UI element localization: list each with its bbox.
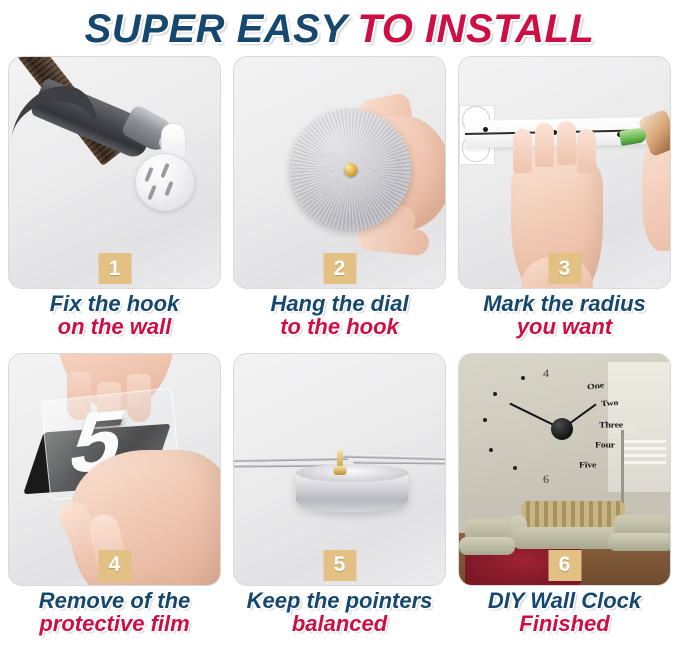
- caption-line-secondary: to the hook: [270, 315, 408, 338]
- blind-slat-icon: [624, 447, 666, 450]
- hammer-claw-icon: [11, 79, 105, 150]
- clock-word-two: Two: [601, 398, 619, 408]
- step-image-1: 1: [8, 56, 221, 289]
- clock-hour-dot-icon: [521, 376, 525, 380]
- step-card-4: 5 4 Remove of the protective film: [8, 353, 221, 649]
- step-caption-6: DIY Wall Clock Finished: [488, 589, 641, 636]
- blind-slat-icon: [624, 454, 666, 457]
- step-caption-5: Keep the pointers balanced: [247, 589, 433, 636]
- clock-hour-dot-icon: [483, 418, 487, 422]
- step-number-badge: 6: [548, 550, 581, 581]
- finger-icon: [356, 223, 430, 256]
- steps-grid: 1 Fix the hook on the wall 2 Hang the di…: [0, 56, 679, 649]
- armchair-seat-icon: [608, 533, 671, 551]
- clock-dial-icon: [290, 109, 411, 230]
- finger-icon: [557, 121, 576, 165]
- clock-hour-dot-icon: [489, 448, 493, 452]
- step-number-badge: 3: [548, 253, 581, 284]
- step-card-1: 1 Fix the hook on the wall: [8, 56, 221, 353]
- step-image-6: 6 4 One Two Three Four Five: [458, 353, 671, 586]
- step-image-2: 2: [233, 56, 446, 289]
- finger-icon: [513, 129, 532, 173]
- step-caption-4: Remove of the protective film: [39, 589, 191, 636]
- step-number-badge: 2: [323, 253, 356, 284]
- step-number-badge: 1: [98, 253, 131, 284]
- clock-numeral-four: 4: [543, 366, 549, 381]
- strip-mark-dot-icon: [483, 127, 488, 132]
- wall-hook-disc-icon: [135, 153, 195, 211]
- step-number-badge: 5: [323, 550, 356, 581]
- blind-slat-icon: [624, 440, 666, 443]
- step-card-5: 5 Keep the pointers balanced: [233, 353, 446, 649]
- mechanism-top-icon: [296, 464, 408, 482]
- clock-pointer-icon: [233, 456, 348, 461]
- caption-line-secondary: protective film: [39, 612, 191, 635]
- step-caption-2: Hang the dial to the hook: [270, 292, 408, 339]
- step-image-3: 3: [458, 56, 671, 289]
- caption-line-primary: Hang the dial: [270, 292, 408, 315]
- clock-word-four: Four: [595, 441, 615, 450]
- armchair-right-icon: [608, 515, 671, 559]
- caption-line-primary: Remove of the: [39, 589, 191, 612]
- caption-line-primary: DIY Wall Clock: [488, 589, 641, 612]
- clock-word-five: Five: [579, 461, 596, 470]
- clock-hour-dot-icon: [513, 466, 517, 470]
- step-caption-3: Mark the radius you want: [483, 292, 646, 339]
- step-image-5: 5: [233, 353, 446, 586]
- caption-line-primary: Fix the hook: [50, 292, 180, 315]
- step-caption-1: Fix the hook on the wall: [50, 292, 180, 339]
- armchair-seat-icon: [459, 537, 515, 555]
- clock-hour-dot-icon: [493, 392, 497, 396]
- step-image-4: 5 4: [8, 353, 221, 586]
- clock-numeral-six: 6: [543, 472, 549, 487]
- mechanism-nut-icon: [333, 466, 346, 475]
- title-part-secondary: TO INSTALL: [358, 9, 595, 49]
- clock-word-three: Three: [599, 421, 623, 430]
- blind-slat-icon: [624, 461, 666, 464]
- caption-line-secondary: Finished: [488, 612, 641, 635]
- armchair-left-icon: [459, 519, 515, 561]
- caption-line-primary: Keep the pointers: [247, 589, 433, 612]
- step-card-6: 6 4 One Two Three Four Five: [458, 353, 671, 649]
- finger-icon: [577, 129, 596, 173]
- caption-line-primary: Mark the radius: [483, 292, 646, 315]
- caption-line-secondary: you want: [483, 315, 646, 338]
- finger-icon: [535, 123, 554, 167]
- caption-line-secondary: on the wall: [50, 315, 180, 338]
- dial-hub-icon: [344, 163, 357, 176]
- step-card-2: 2 Hang the dial to the hook: [233, 56, 446, 353]
- floor-lamp-pole-icon: [621, 430, 624, 504]
- step-card-3: 3 Mark the radius you want: [458, 56, 671, 353]
- step-number-badge: 4: [98, 550, 131, 581]
- page-title: SUPER EASY TO INSTALL: [0, 0, 679, 56]
- clock-hub-icon: [551, 418, 573, 440]
- caption-line-secondary: balanced: [247, 612, 433, 635]
- clock-pointer-icon: [343, 454, 446, 460]
- clock-word-one: One: [586, 380, 604, 391]
- title-part-primary: SUPER EASY: [85, 9, 348, 49]
